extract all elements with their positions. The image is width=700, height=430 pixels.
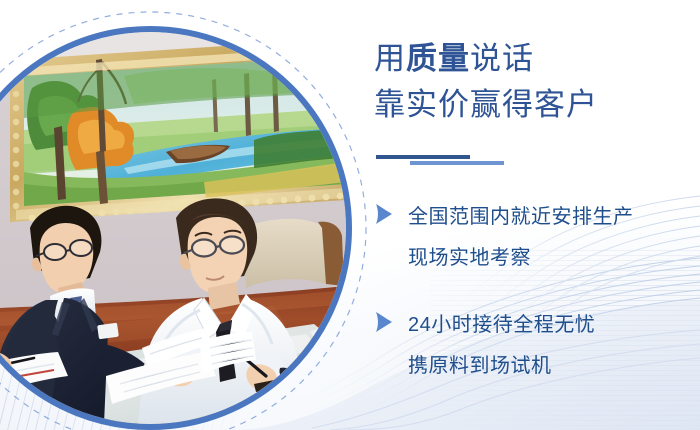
arrow-right-icon (374, 311, 394, 333)
photo-frame-ring (0, 26, 352, 430)
divider-line-primary (376, 155, 470, 159)
list-item-line-1: 全国范围内就近安排生产 (408, 197, 700, 238)
headline-line-1: 用质量说话 (374, 36, 700, 82)
photo-circle (0, 26, 352, 430)
divider-line-secondary (410, 161, 504, 165)
headline-line1-suffix: 说话 (470, 41, 534, 76)
arrow-right-icon (374, 203, 394, 225)
list-item-line-1: 24小时接待全程无忧 (408, 305, 700, 346)
headline-line-2: 靠实价赢得客户 (374, 82, 598, 128)
list-item: 24小时接待全程无忧 携原料到场试机 (372, 305, 700, 387)
meeting-photo-illustration (0, 32, 346, 424)
headline-line1-emphasis: 质量 (406, 41, 470, 76)
feature-list: 全国范围内就近安排生产 现场实地考察 24小时接待全程无忧 携原料到场试机 (372, 197, 700, 413)
headline-line1-prefix: 用 (374, 41, 406, 76)
banner-content: 用质量说话 靠实价赢得客户 全国范围内就近安排生产 现场实地考察 24小时接待全… (372, 0, 700, 430)
list-item-line-2: 现场实地考察 (408, 238, 700, 279)
promo-banner: 用质量说话 靠实价赢得客户 全国范围内就近安排生产 现场实地考察 24小时接待全… (0, 0, 700, 430)
list-item-line-2: 携原料到场试机 (408, 346, 700, 387)
meeting-photo (0, 32, 346, 424)
list-item: 全国范围内就近安排生产 现场实地考察 (372, 197, 700, 279)
